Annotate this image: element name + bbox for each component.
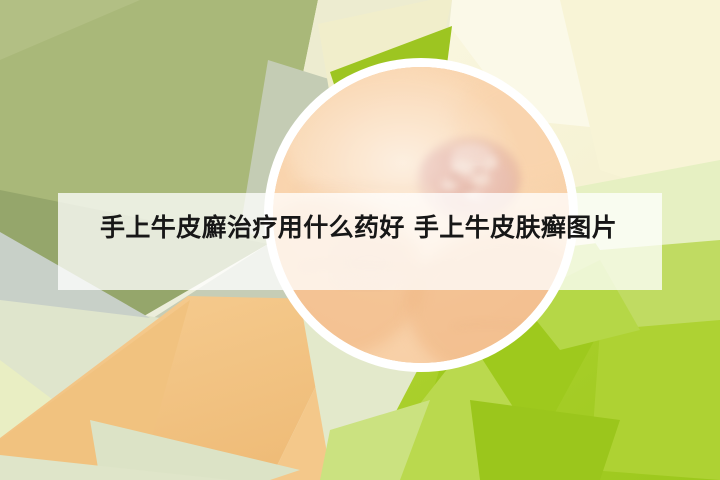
page-title: 手上牛皮廯治疗用什么药好 手上牛皮肤癣图片 [100, 210, 620, 246]
shape-lime-far-right [590, 320, 720, 480]
title-banner: 手上牛皮廯治疗用什么药好 手上牛皮肤癣图片 [58, 193, 662, 290]
poster-canvas: 手上牛皮廯治疗用什么药好 手上牛皮肤癣图片 [0, 0, 720, 480]
